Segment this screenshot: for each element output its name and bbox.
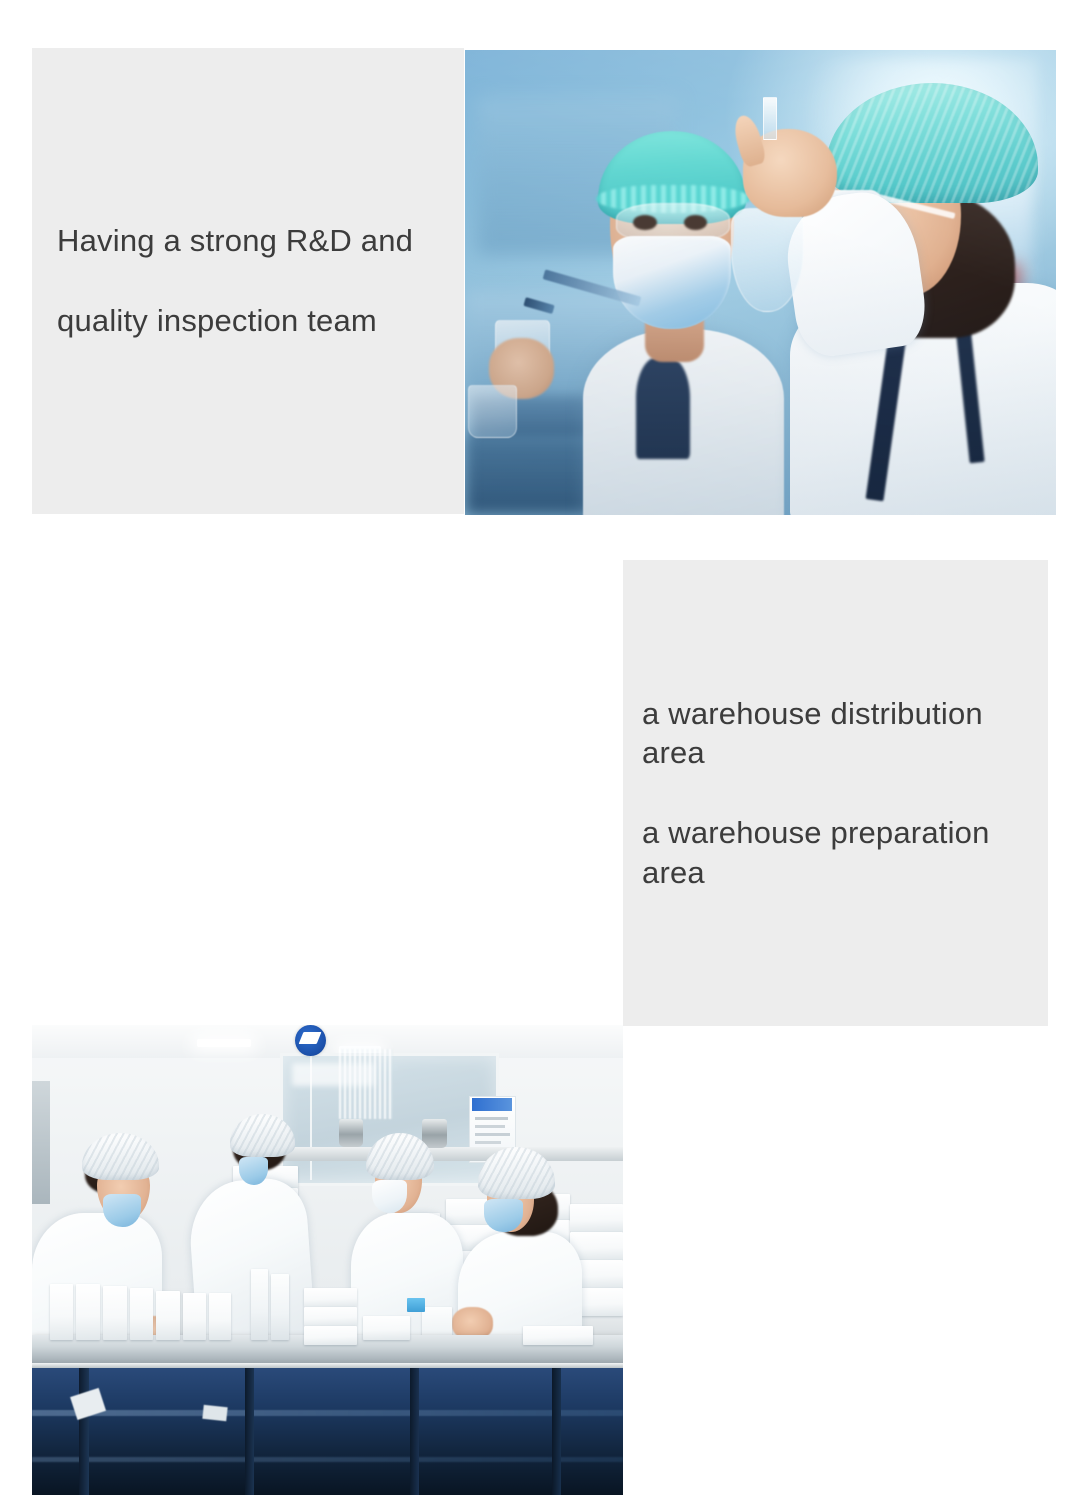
warehouse-door-frame: [32, 1081, 50, 1203]
stainless-pot-1: [339, 1119, 363, 1147]
table-leg-1: [79, 1368, 88, 1495]
notice-board-line-1: [475, 1117, 508, 1120]
table-rail-lower: [32, 1457, 623, 1462]
carton-front-item: [209, 1293, 230, 1340]
blue-table-frame: [32, 1368, 623, 1495]
research-quality-caption: Having a strong R&D and quality inspecti…: [57, 182, 413, 380]
table-leg-2: [245, 1368, 254, 1495]
lab-photo-haze: [465, 50, 1056, 515]
carton-stack-item: [570, 1204, 623, 1232]
warehouse-packing-photo: [32, 1025, 623, 1495]
lab-quality-inspection-photo: [465, 50, 1056, 515]
carton-tall-item: [271, 1274, 289, 1340]
carton-flat-item: [523, 1326, 594, 1345]
ceiling-light-1: [197, 1039, 250, 1047]
carton-front-item: [103, 1286, 127, 1340]
worker-f-face-mask: [484, 1199, 522, 1232]
carton-flat-item: [304, 1326, 357, 1345]
notice-board-line-2: [475, 1125, 505, 1128]
page-root: Having a strong R&D and quality inspecti…: [0, 0, 1080, 1080]
caption-line-1: a warehouse distribution area: [642, 694, 1048, 773]
notice-board-line-4: [475, 1141, 501, 1144]
caption-line-2: quality inspection team: [57, 301, 413, 341]
carton-front-item: [130, 1288, 154, 1340]
carton-flat-item: [304, 1288, 357, 1307]
carton-front-item: [183, 1293, 207, 1340]
research-quality-caption-panel: Having a strong R&D and quality inspecti…: [32, 48, 464, 514]
air-curtain-strips: [339, 1049, 392, 1120]
carton-front-item: [50, 1284, 74, 1340]
floor-paper-2: [203, 1404, 228, 1420]
caption-line-2: a warehouse preparation area: [642, 813, 1048, 892]
carton-tall-item: [251, 1269, 269, 1340]
carton-front-item: [156, 1291, 180, 1340]
table-leg-4: [552, 1368, 561, 1495]
carton-flat-item: [304, 1307, 357, 1326]
carton-flat-item: [363, 1316, 410, 1340]
warehouse-areas-caption: a warehouse distribution area a warehous…: [642, 654, 1048, 932]
table-rail-upper: [32, 1410, 623, 1416]
notice-board-line-3: [475, 1133, 509, 1136]
caption-line-1: Having a strong R&D and: [57, 221, 413, 261]
blue-label-tape: [407, 1298, 425, 1312]
warehouse-areas-caption-panel: a warehouse distribution area a warehous…: [623, 560, 1048, 1026]
notice-board-header: [472, 1098, 512, 1110]
back-counter: [257, 1147, 623, 1161]
carton-front-item: [76, 1284, 100, 1340]
table-leg-3: [410, 1368, 419, 1495]
